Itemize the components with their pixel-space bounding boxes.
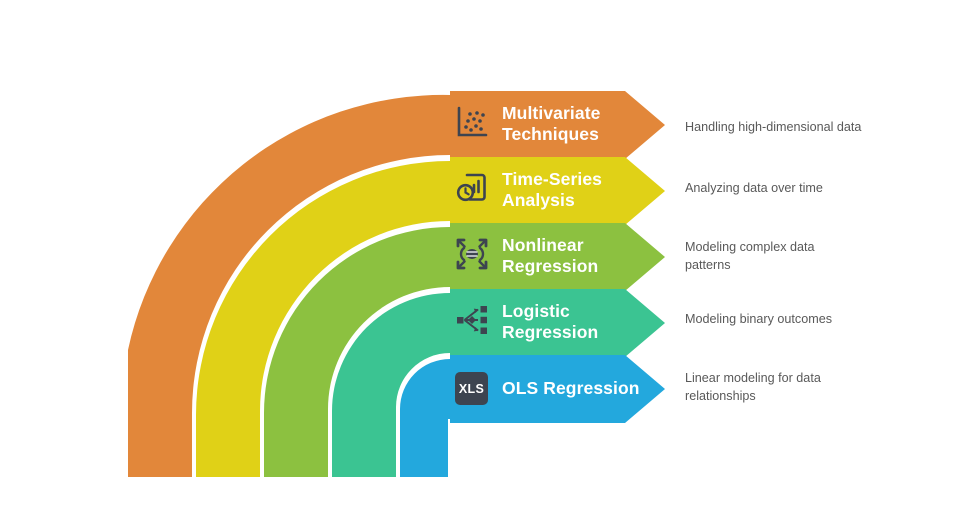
band-description-time-series: Analyzing data over time [685, 179, 895, 197]
band-description-logistic: Modeling binary outcomes [685, 310, 895, 328]
band-description-ols: Linear modeling for data relationships [685, 369, 895, 406]
band-description-multivariate: Handling high-dimensional data [685, 118, 895, 136]
band-label-multivariate: Multivariate Techniques [502, 103, 600, 146]
network-nodes-icon [455, 303, 489, 337]
band-label-ols: OLS Regression [502, 378, 640, 399]
band-label-time-series: Time-Series Analysis [502, 169, 602, 212]
xls-badge: XLS [455, 372, 488, 405]
band-shape-ols[interactable] [400, 355, 665, 477]
infographic-canvas: Multivariate Techniques Handling high-di… [0, 0, 980, 517]
band-label-logistic: Logistic Regression [502, 301, 598, 344]
xls-label: XLS [459, 382, 484, 396]
time-series-document-icon [455, 171, 489, 205]
band-description-nonlinear: Modeling complex data patterns [685, 238, 895, 275]
xls-file-icon: XLS [455, 372, 489, 406]
scatter-plot-icon [455, 105, 489, 139]
expand-nodes-icon [455, 237, 489, 271]
band-label-nonlinear: Nonlinear Regression [502, 235, 598, 278]
